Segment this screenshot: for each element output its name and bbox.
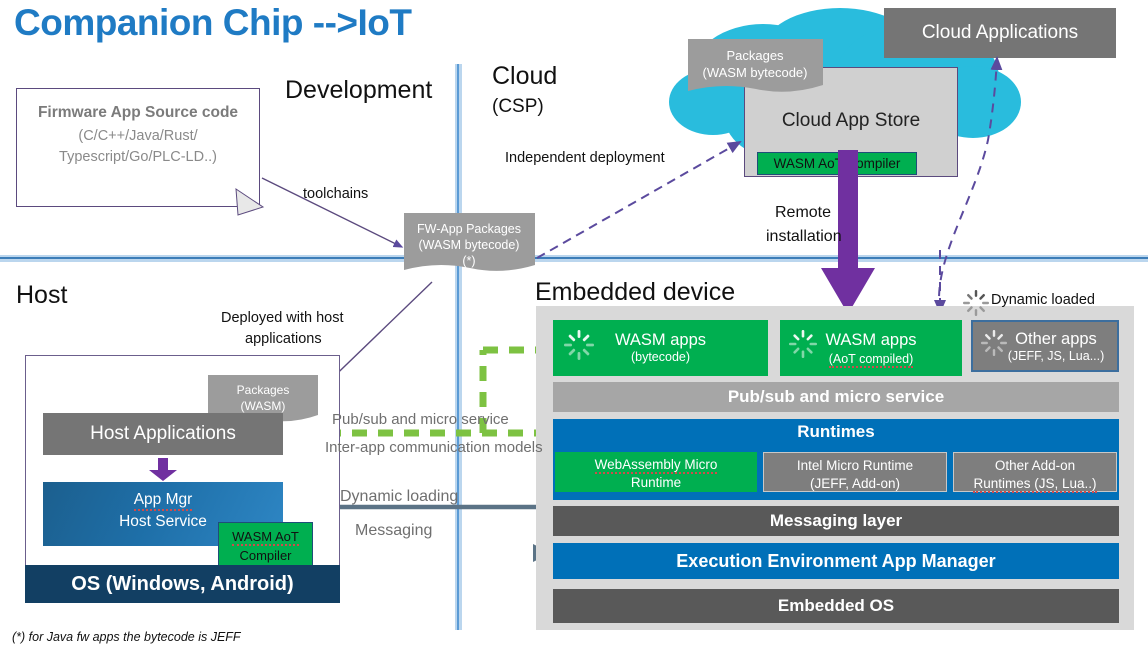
diagram-canvas: Companion Chip -->IoT Development Cloud … [0, 0, 1148, 653]
runtime-line2: Runtime [631, 475, 681, 490]
runtimes-group: Runtimes WebAssembly Micro Runtime Intel… [553, 419, 1119, 500]
cloud-applications-box: Cloud Applications [884, 8, 1116, 58]
page-title: Companion Chip -->IoT [14, 2, 411, 44]
cloud-packages-callout: Packages (WASM bytecode) [688, 39, 823, 97]
zone-label-cloud: Cloud [492, 62, 557, 91]
host-wasm-aot-compiler: WASM AoT Compiler [218, 522, 313, 567]
embedded-app-tile-wasm-aot: WASM apps (AoT compiled) [780, 320, 962, 376]
runtime-line2: Runtimes (JS, Lua..) [973, 476, 1096, 493]
host-packages-line2: (WASM) [241, 399, 286, 413]
cloud-packages-line1: Packages [726, 48, 784, 63]
fw-packages-line1: FW-App Packages [417, 222, 521, 236]
firmware-line1: (C/C++/Java/Rust/ [78, 128, 197, 144]
pubsub-micro-service-bar: Pub/sub and micro service [553, 382, 1119, 412]
host-applications-box: Host Applications [43, 413, 283, 455]
label-dynamic-loaded: Dynamic loaded [991, 292, 1095, 308]
fw-app-packages-callout: FW-App Packages (WASM bytecode) (*) [404, 213, 535, 276]
app-tile-title: Other apps [995, 330, 1117, 349]
runtime-other-add-on: Other Add-on Runtimes (JS, Lua..) [953, 452, 1117, 492]
firmware-line2: Typescript/Go/PLC-LD..) [59, 149, 217, 165]
spinner-icon [564, 330, 594, 360]
label-remote-line2: installation [766, 228, 842, 246]
horizontal-divider [0, 255, 1148, 262]
cloud-packages-line2: (WASM bytecode) [703, 65, 808, 80]
label-messaging: Messaging [355, 522, 432, 540]
fw-packages-line2: (WASM bytecode) [419, 238, 520, 252]
spinner-icon [789, 330, 817, 358]
zone-label-development: Development [285, 76, 432, 105]
runtimes-header: Runtimes [553, 419, 1119, 445]
embedded-app-tile-wasm-bytecode: WASM apps (bytecode) [553, 320, 768, 376]
runtime-line1: Intel Micro Runtime [797, 458, 913, 473]
firmware-box-folded-corner [236, 189, 264, 216]
label-dynamic-loading: Dynamic loading [340, 488, 458, 506]
app-tile-sub: (AoT compiled) [829, 352, 914, 368]
fw-packages-line3: (*) [462, 254, 475, 268]
host-os-bar: OS (Windows, Android) [25, 565, 340, 603]
host-apps-to-appmgr-arrow [148, 458, 178, 482]
label-toolchains: toolchains [303, 186, 368, 202]
host-packages-line1: Packages [237, 383, 290, 397]
zone-label-cloud-sub: (CSP) [492, 96, 544, 118]
embedded-app-tile-other-apps: Other apps (JEFF, JS, Lua...) [971, 320, 1119, 372]
zone-label-host: Host [16, 281, 67, 310]
app-tile-sub: (JEFF, JS, Lua...) [995, 349, 1117, 363]
host-aot-line1: WASM AoT [232, 529, 299, 546]
runtime-line1: Other Add-on [995, 458, 1075, 473]
label-remote-line1: Remote [775, 204, 831, 222]
vertical-divider [455, 64, 462, 630]
runtime-line1: WebAssembly Micro [595, 457, 718, 474]
label-inter-app-communication: Inter-app communication models [325, 439, 543, 456]
label-deployed-line2: applications [245, 331, 322, 347]
execution-environment-app-manager-bar: Execution Environment App Manager [553, 543, 1119, 579]
cloud-app-store-title: Cloud App Store [745, 110, 957, 132]
runtime-line2: (JEFF, Add-on) [810, 476, 900, 491]
host-aot-line2: Compiler [239, 548, 291, 563]
runtime-intel-micro-runtime: Intel Micro Runtime (JEFF, Add-on) [763, 452, 947, 492]
zone-label-embedded-device: Embedded device [535, 278, 735, 307]
label-deployed-line1: Deployed with host [221, 310, 344, 326]
app-mgr-label: App Mgr [134, 491, 193, 511]
label-pubsub-micro-service: Pub/sub and micro service [332, 411, 509, 428]
firmware-heading: Firmware App Source code [17, 104, 259, 122]
firmware-source-box: Firmware App Source code (C/C++/Java/Rus… [16, 88, 260, 207]
footnote: (*) for Java fw apps the bytecode is JEF… [12, 630, 241, 644]
spinner-icon [981, 330, 1007, 356]
dynamic-loaded-spinner-icon [963, 290, 989, 316]
runtime-wasm-micro-runtime: WebAssembly Micro Runtime [555, 452, 757, 492]
embedded-os-bar: Embedded OS [553, 589, 1119, 623]
label-independent-deployment: Independent deployment [505, 150, 665, 166]
messaging-layer-bar: Messaging layer [553, 506, 1119, 536]
